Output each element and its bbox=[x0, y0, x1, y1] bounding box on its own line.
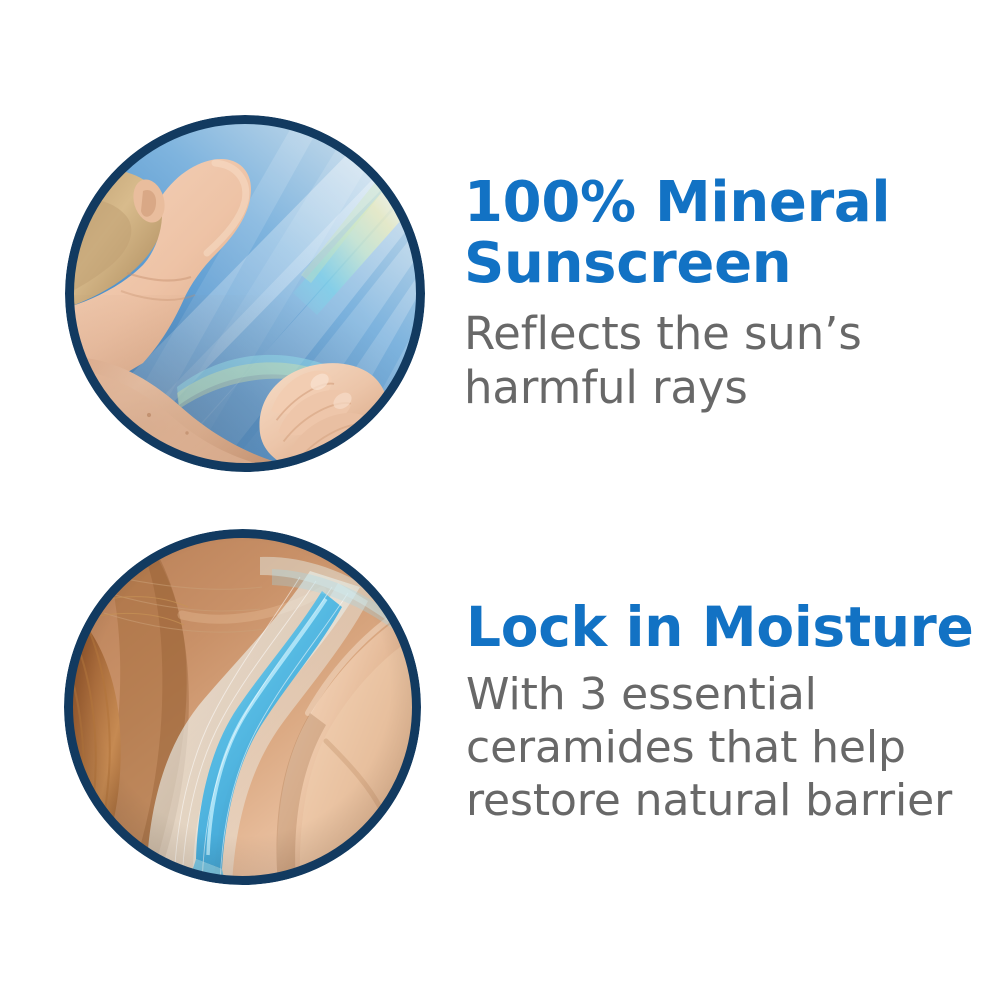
benefit-desc-line-2: ceramides that help bbox=[466, 722, 906, 773]
benefit-row-lock-in-moisture: Lock in Moisture With 3 essential cerami… bbox=[0, 500, 1000, 1000]
benefit-title-line-1: 100% Mineral bbox=[464, 170, 890, 235]
benefit-copy-mineral-sunscreen: 100% Mineral Sunscreen Reflects the sun’… bbox=[464, 172, 964, 415]
benefit-copy-lock-in-moisture: Lock in Moisture With 3 essential cerami… bbox=[466, 597, 986, 827]
benefit-description-lock-in-moisture: With 3 essential ceramides that help res… bbox=[466, 668, 986, 827]
benefit-desc-line-3: restore natural barrier bbox=[466, 775, 952, 826]
woman-in-sunlight-photo bbox=[65, 115, 425, 472]
benefit-title-mineral-sunscreen: 100% Mineral Sunscreen bbox=[464, 172, 964, 294]
benefit-title-line-2: Sunscreen bbox=[464, 231, 791, 296]
benefit-row-mineral-sunscreen: 100% Mineral Sunscreen Reflects the sun’… bbox=[0, 0, 1000, 500]
benefit-title-line-1: Lock in Moisture bbox=[466, 595, 974, 659]
moisture-ribbon-shoulder-photo bbox=[64, 529, 421, 885]
benefit-desc-line-1: Reflects the sun’s bbox=[464, 307, 862, 360]
benefit-description-mineral-sunscreen: Reflects the sun’s harmful rays bbox=[464, 307, 964, 415]
benefit-desc-line-2: harmful rays bbox=[464, 361, 748, 414]
benefit-desc-line-1: With 3 essential bbox=[466, 669, 817, 720]
benefit-title-lock-in-moisture: Lock in Moisture bbox=[466, 597, 986, 657]
